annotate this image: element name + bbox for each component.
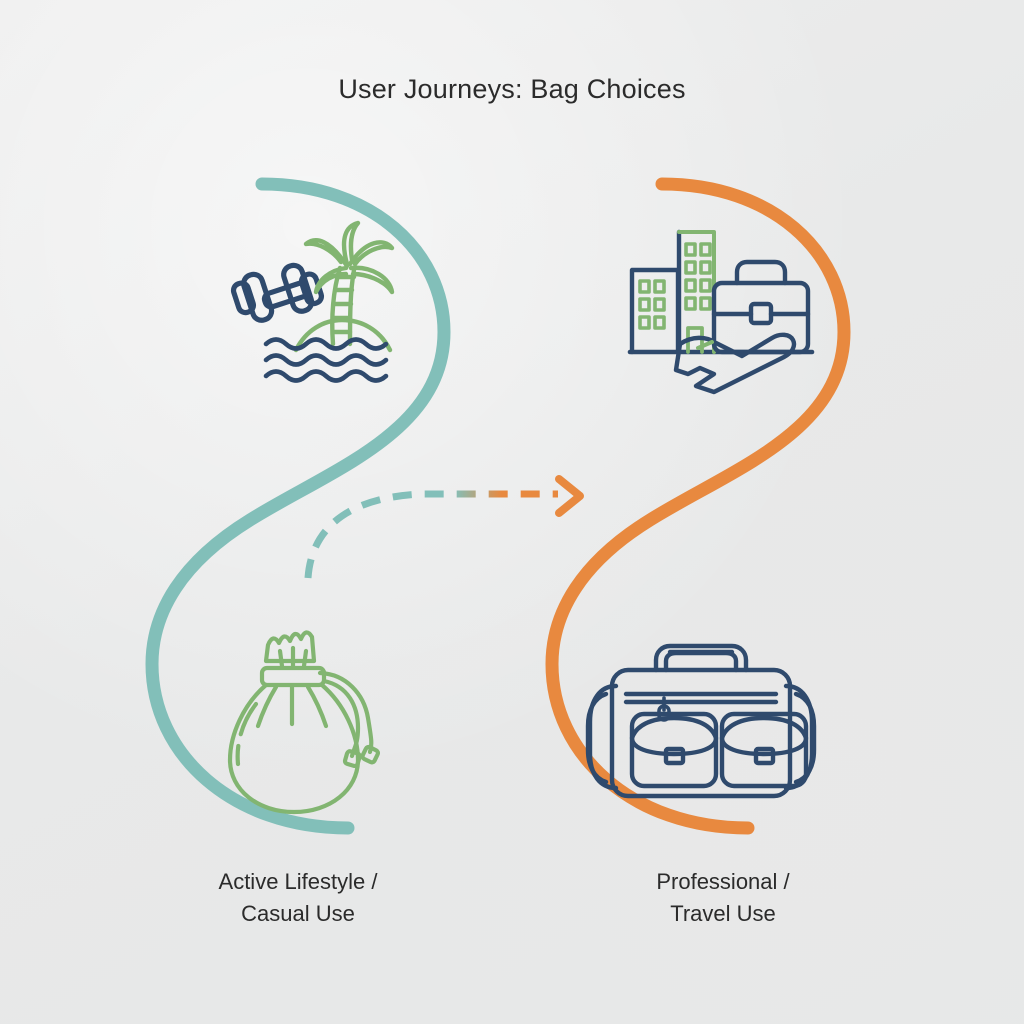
water-waves-icon	[266, 340, 386, 381]
palm-tree-icon	[296, 223, 392, 350]
journey-caption-right: Professional / Travel Use	[558, 866, 888, 930]
journey-caption-right-line2: Travel Use	[558, 898, 888, 930]
airplane-icon	[676, 335, 794, 392]
infographic-canvas: User Journeys: Bag Choices Active Lifest…	[0, 0, 1024, 1024]
active-lifestyle-icon	[232, 223, 392, 381]
journey-caption-left-line2: Casual Use	[133, 898, 463, 930]
professional-travel-icon	[630, 232, 812, 392]
dumbbell-icon	[232, 263, 324, 323]
office-building-short-icon	[632, 270, 678, 352]
page-title: User Journeys: Bag Choices	[0, 74, 1024, 105]
drawstring-pouch-bag-icon	[230, 632, 379, 812]
duffel-bag-icon	[588, 646, 814, 796]
journey-caption-left: Active Lifestyle / Casual Use	[133, 866, 463, 930]
journey-caption-right-line1: Professional /	[558, 866, 888, 898]
journey-caption-left-line1: Active Lifestyle /	[133, 866, 463, 898]
office-building-tall-icon	[679, 232, 714, 352]
